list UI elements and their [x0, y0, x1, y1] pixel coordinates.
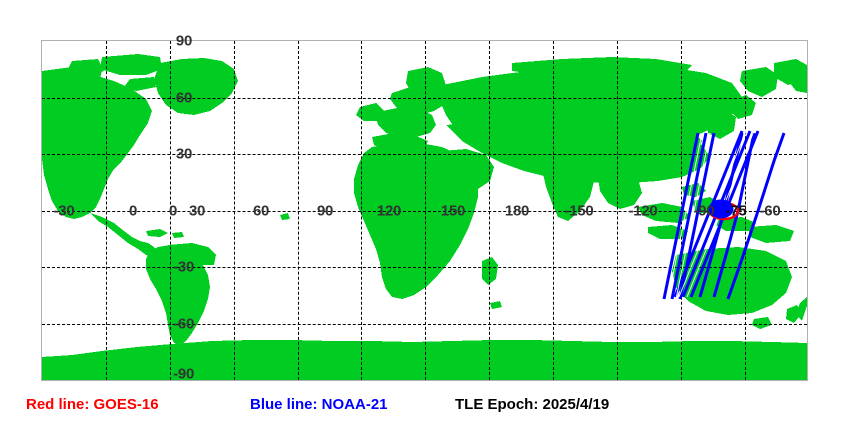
gridline-lat	[42, 267, 807, 268]
legend-red-line-goes16: Red line: GOES-16	[26, 397, 159, 412]
lon-tick-30: 30	[189, 203, 205, 218]
lon-tick-180: 180	[505, 203, 529, 218]
lon-tick-150: 150	[441, 203, 465, 218]
lon-tick-60: 60	[253, 203, 269, 218]
gridline-lat	[42, 154, 807, 155]
map-legend: Red line: GOES-16 Blue line: NOAA-21 TLE…	[0, 392, 850, 420]
lon-tick-minus60: -60	[760, 203, 781, 218]
legend-blue-line-noaa21: Blue line: NOAA-21	[250, 397, 388, 412]
lat-tick-60: 60	[176, 90, 192, 105]
gridline-lat	[42, 324, 807, 325]
lat-tick-0: 0	[169, 203, 177, 218]
lat-tick-minus30: -30	[173, 260, 194, 275]
lon-tick-90: 90	[317, 203, 333, 218]
map-clip-region	[42, 41, 807, 380]
lat-tick-minus60: -60	[173, 316, 194, 331]
lon-tick-0: 0	[129, 203, 137, 218]
world-map-panel: 90 60 30 0 -30 -60 -90 -30 0 30 60 90 12…	[41, 40, 808, 381]
gridline-lat	[42, 211, 807, 212]
lon-tick-120: 120	[377, 203, 401, 218]
lon-tick-minus30: -30	[54, 203, 75, 218]
lon-tick-minus120: -120	[629, 203, 658, 218]
lon-tick-minus90: -90	[694, 203, 715, 218]
legend-tle-epoch: TLE Epoch: 2025/4/19	[455, 397, 609, 412]
lat-tick-90: 90	[176, 34, 192, 49]
lat-tick-minus90: -90	[173, 367, 194, 382]
gridline-lat	[42, 98, 807, 99]
lon-tick-minus150: -150	[565, 203, 594, 218]
lon-tick-minus75: -75	[726, 203, 747, 218]
lat-tick-30: 30	[176, 147, 192, 162]
